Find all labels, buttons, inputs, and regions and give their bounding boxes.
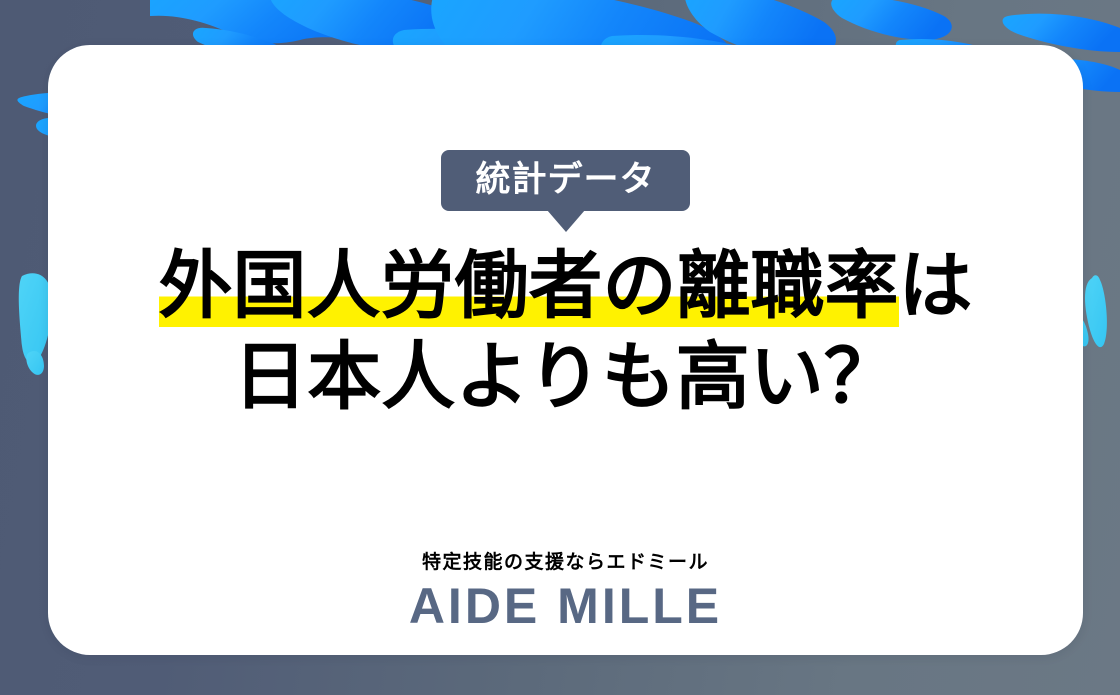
category-badge: 統計データ xyxy=(441,150,689,211)
headline-line-1: 外国人労働者の離職率は xyxy=(48,240,1083,331)
slide-canvas: 統計データ 外国人労働者の離職率は 日本人よりも高い？ 特定技能の支援ならエドミ… xyxy=(0,0,1120,695)
footer-branding: 特定技能の支援ならエドミール AIDE MILLE xyxy=(48,550,1083,633)
brand-tagline: 特定技能の支援ならエドミール xyxy=(48,550,1083,577)
headline-highlighted-text: 外国人労働者の離職率 xyxy=(159,244,899,327)
category-badge-wrap: 統計データ xyxy=(48,150,1083,232)
badge-pointer-icon xyxy=(547,210,585,232)
brand-logo-wordmark: AIDE MILLE xyxy=(48,579,1083,633)
headline-line-2: 日本人よりも高い？ xyxy=(48,331,1083,422)
content-card: 統計データ 外国人労働者の離職率は 日本人よりも高い？ 特定技能の支援ならエドミ… xyxy=(48,45,1083,655)
headline: 外国人労働者の離職率は 日本人よりも高い？ xyxy=(48,240,1083,422)
headline-line-1-tail: は xyxy=(899,244,973,327)
